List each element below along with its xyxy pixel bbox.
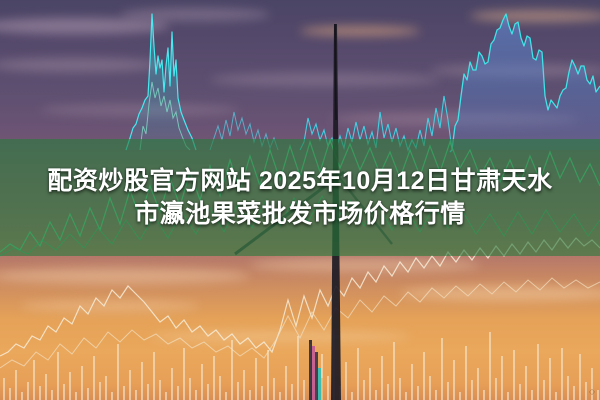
caption-line-1: 配资炒股官方网站 2025年10月12日甘肃天水 — [47, 165, 552, 198]
caption-band: 配资炒股官方网站 2025年10月12日甘肃天水 市瀛池果菜批发市场价格行情 — [0, 139, 600, 256]
caption-line-2: 市瀛池果菜批发市场价格行情 — [134, 198, 466, 231]
banner-image: 配资炒股官方网站 2025年10月12日甘肃天水 市瀛池果菜批发市场价格行情 ◇ — [0, 0, 600, 400]
corner-mark: ◇ — [589, 387, 595, 396]
tower-antenna-tip — [335, 24, 336, 120]
